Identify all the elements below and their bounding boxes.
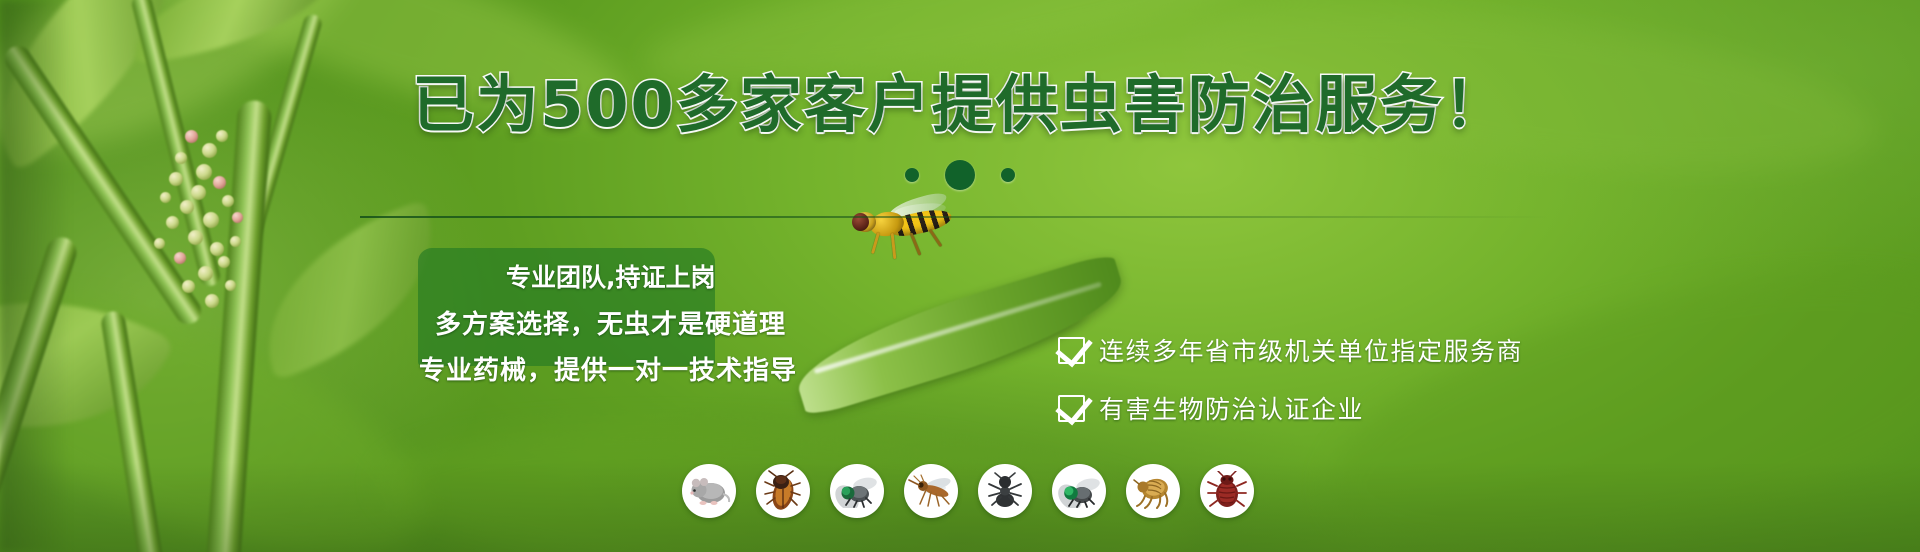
selling-point-line-2: 多方案选择，无虫才是硬道理 [435,304,786,341]
mouse-icon[interactable] [682,464,736,518]
ant-icon[interactable] [978,464,1032,518]
dot-small-left [905,168,919,182]
checkbox-checked-icon [1058,337,1085,364]
cockroach-icon[interactable] [756,464,810,518]
mosquito-icon[interactable] [904,464,958,518]
divider-rule [360,216,1550,218]
dot-small-right [1001,168,1015,182]
hoverfly-leg-3 [910,232,922,255]
banner-headline: 已为500多家客户提供虫害防治服务！ [0,74,1920,136]
hoverfly-photo [848,196,966,256]
selling-point-line-3: 专业药械，提供一对一技术指导 [419,350,797,387]
checklist-item: 有害生物防治认证企业 [1058,390,1523,426]
checklist-item-label: 有害生物防治认证企业 [1099,390,1364,426]
banner-headline-text: 已为500多家客户提供虫害防治服务！ [412,74,1507,136]
pest-control-banner: 已为500多家客户提供虫害防治服务！ 专业团队,持证上岗 多方案选择，无虫才是硬… [0,0,1920,552]
flea-icon[interactable] [1126,464,1180,518]
selling-point-line-1: 专业团队,持证上岗 [506,258,716,294]
checkbox-checked-icon [1058,395,1085,422]
checklist-item: 连续多年省市级机关单位指定服务商 [1058,332,1523,368]
pest-icon-row [682,464,1254,518]
credentials-checklist: 连续多年省市级机关单位指定服务商 有害生物防治认证企业 [1058,332,1523,426]
housefly-icon[interactable] [830,464,884,518]
blowfly-icon[interactable] [1052,464,1106,518]
bedbug-icon[interactable] [1200,464,1254,518]
checklist-item-label: 连续多年省市级机关单位指定服务商 [1099,332,1523,368]
dot-large-center [945,160,975,190]
hoverfly-leg-1 [871,232,880,254]
headline-dots [0,160,1920,190]
hoverfly-leg-4 [929,229,943,247]
hoverfly-leg-2 [891,233,897,259]
